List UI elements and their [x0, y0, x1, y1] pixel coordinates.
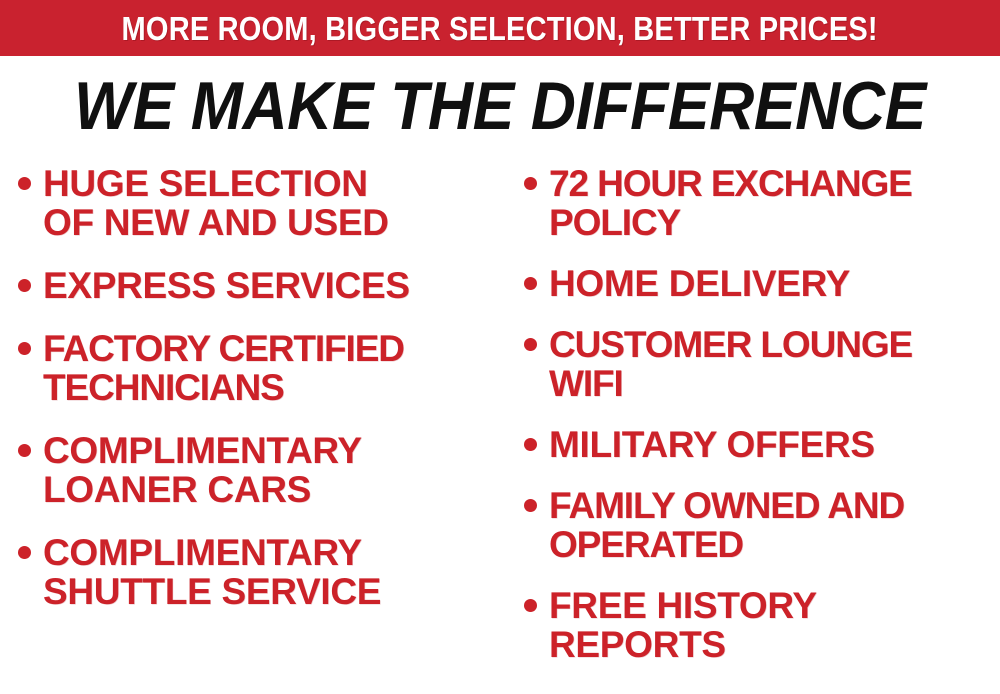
list-item-label: FAMILY OWNED AND OPERATED	[549, 486, 904, 564]
benefits-right-column: 72 HOUR EXCHANGE POLICY HOME DELIVERY CU…	[510, 158, 1000, 694]
list-item: MILITARY OFFERS	[524, 425, 1000, 464]
list-item: CUSTOMER LOUNGE WIFI	[524, 325, 1000, 403]
list-item: 72 HOUR EXCHANGE POLICY	[524, 164, 1000, 242]
bullet-dot-icon	[524, 599, 537, 612]
list-item: FREE HISTORY REPORTS	[524, 586, 1000, 664]
bullet-dot-icon	[524, 338, 537, 351]
bullet-dot-icon	[524, 499, 537, 512]
benefits-left-column: HUGE SELECTION OF NEW AND USED EXPRESS S…	[0, 158, 510, 694]
list-item-label: MILITARY OFFERS	[549, 425, 875, 464]
list-item-label: EXPRESS SERVICES	[43, 266, 410, 305]
list-item: EXPRESS SERVICES	[18, 266, 510, 305]
list-item: HUGE SELECTION OF NEW AND USED	[18, 164, 510, 242]
list-item: COMPLIMENTARY LOANER CARS	[18, 431, 510, 509]
list-item-label: COMPLIMENTARY SHUTTLE SERVICE	[43, 533, 381, 611]
advertisement-graphic: MORE ROOM, BIGGER SELECTION, BETTER PRIC…	[0, 0, 1000, 694]
list-item-label: 72 HOUR EXCHANGE POLICY	[549, 164, 912, 242]
list-item: FAMILY OWNED AND OPERATED	[524, 486, 1000, 564]
list-item-label: HOME DELIVERY	[549, 264, 850, 303]
bullet-dot-icon	[18, 444, 31, 457]
list-item-label: FREE HISTORY REPORTS	[549, 586, 817, 664]
bullet-dot-icon	[18, 177, 31, 190]
list-item: FACTORY CERTIFIED TECHNICIANS	[18, 329, 510, 407]
list-item-label: FACTORY CERTIFIED TECHNICIANS	[43, 329, 404, 407]
bullet-dot-icon	[18, 546, 31, 559]
page-title: WE MAKE THE DIFFERENCE	[74, 72, 926, 140]
top-banner: MORE ROOM, BIGGER SELECTION, BETTER PRIC…	[0, 0, 1000, 56]
headline-container: WE MAKE THE DIFFERENCE	[0, 62, 1000, 150]
bullet-dot-icon	[524, 277, 537, 290]
bullet-dot-icon	[18, 279, 31, 292]
list-item-label: HUGE SELECTION OF NEW AND USED	[43, 164, 389, 242]
bullet-dot-icon	[524, 177, 537, 190]
list-item: HOME DELIVERY	[524, 264, 1000, 303]
top-banner-text: MORE ROOM, BIGGER SELECTION, BETTER PRIC…	[122, 12, 878, 45]
list-item-label: COMPLIMENTARY LOANER CARS	[43, 431, 362, 509]
bullet-dot-icon	[524, 438, 537, 451]
bullet-dot-icon	[18, 342, 31, 355]
list-item-label: CUSTOMER LOUNGE WIFI	[549, 325, 912, 403]
list-item: COMPLIMENTARY SHUTTLE SERVICE	[18, 533, 510, 611]
benefits-columns: HUGE SELECTION OF NEW AND USED EXPRESS S…	[0, 158, 1000, 694]
